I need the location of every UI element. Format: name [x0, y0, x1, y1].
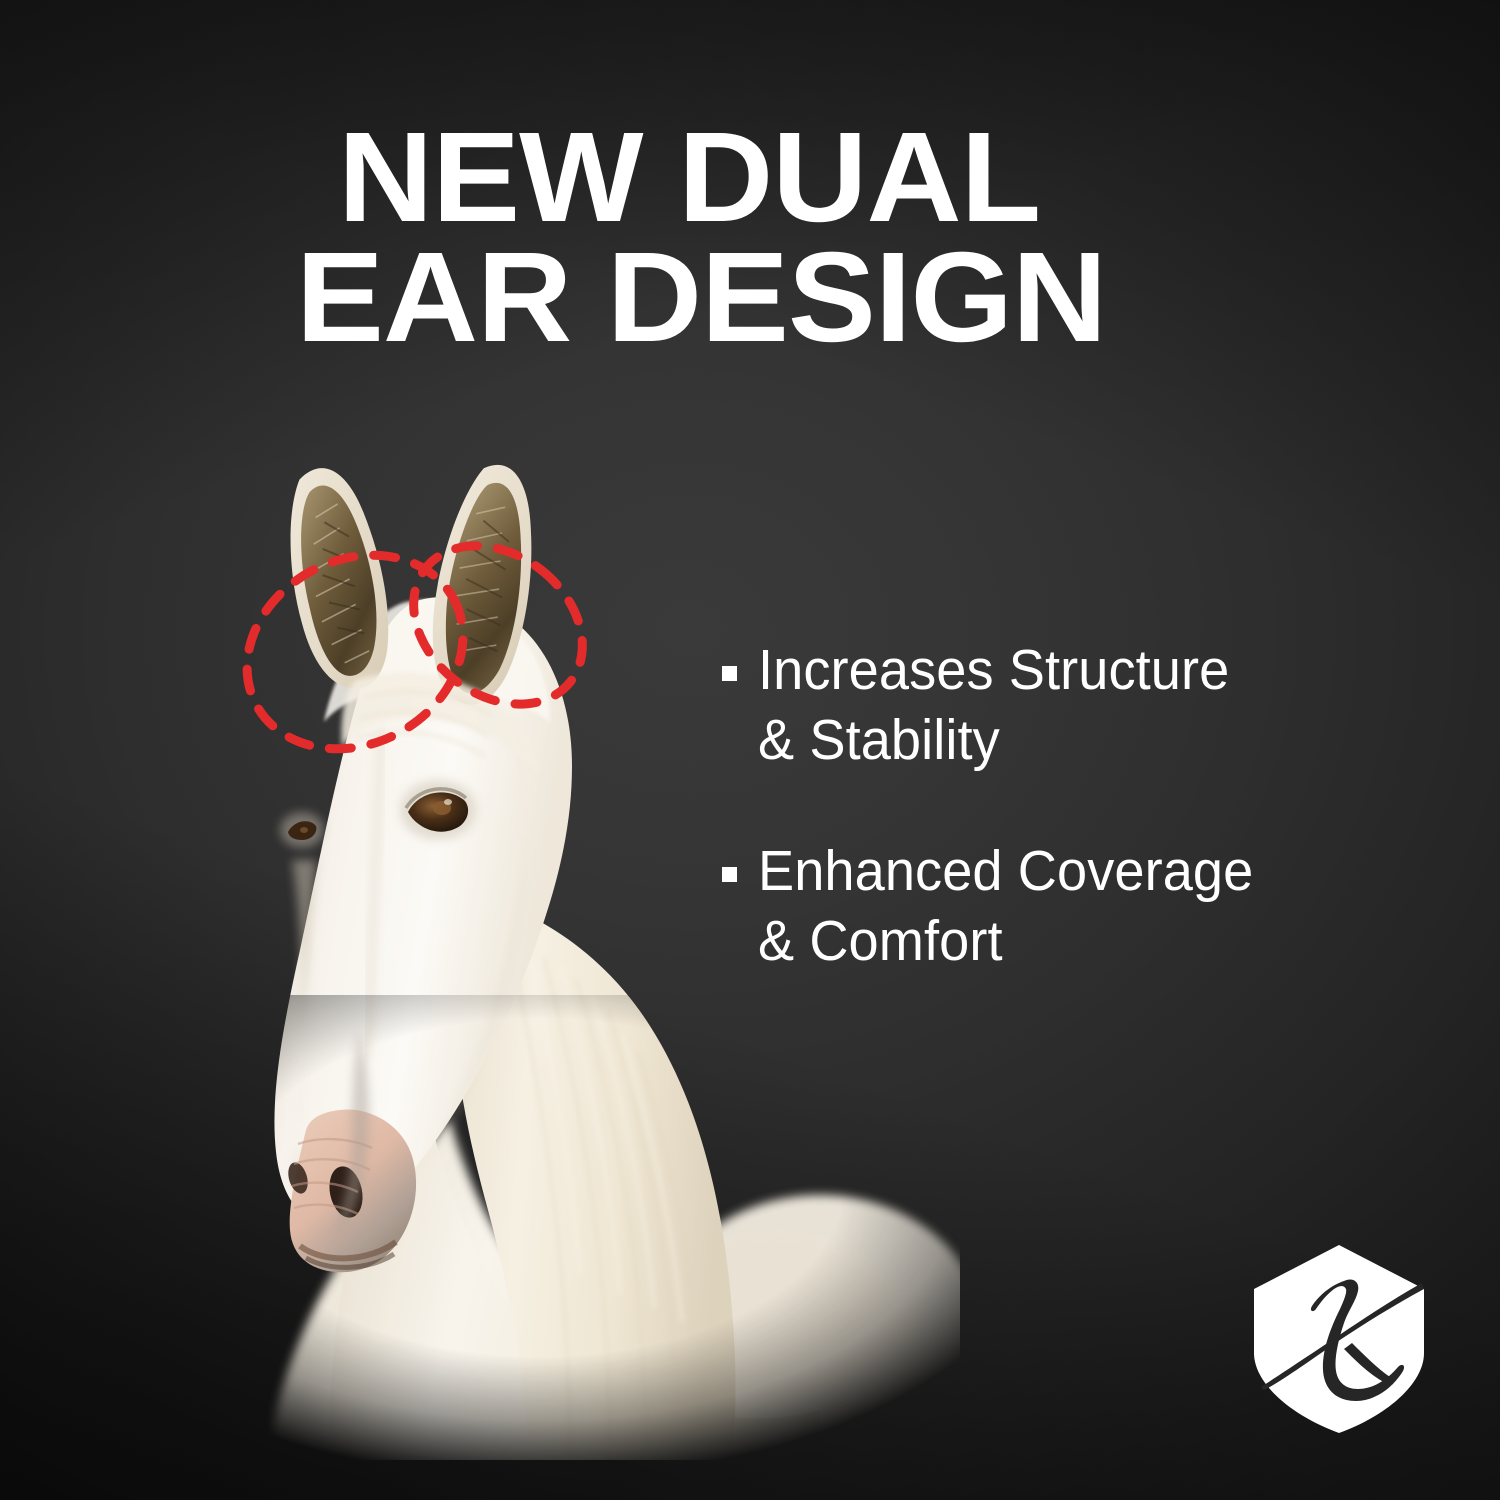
- brand-logo: [1248, 1243, 1430, 1435]
- promo-image-canvas: NEW DUAL EAR DESIGN Increases Structure …: [0, 0, 1500, 1500]
- headline-line-1: NEW DUAL: [338, 118, 1321, 238]
- feature-bullet-list: Increases Structure & Stability Enhanced…: [722, 636, 1422, 1038]
- list-item: Increases Structure & Stability: [722, 636, 1422, 775]
- list-item: Enhanced Coverage & Comfort: [722, 837, 1422, 976]
- square-bullet-icon: [722, 867, 737, 882]
- bullet-label-2: Enhanced Coverage & Comfort: [758, 837, 1253, 976]
- bullet-label-1: Increases Structure & Stability: [758, 636, 1229, 775]
- headline: NEW DUAL EAR DESIGN: [292, 118, 1292, 359]
- headline-line-2: EAR DESIGN: [296, 238, 1322, 358]
- square-bullet-icon: [722, 666, 737, 681]
